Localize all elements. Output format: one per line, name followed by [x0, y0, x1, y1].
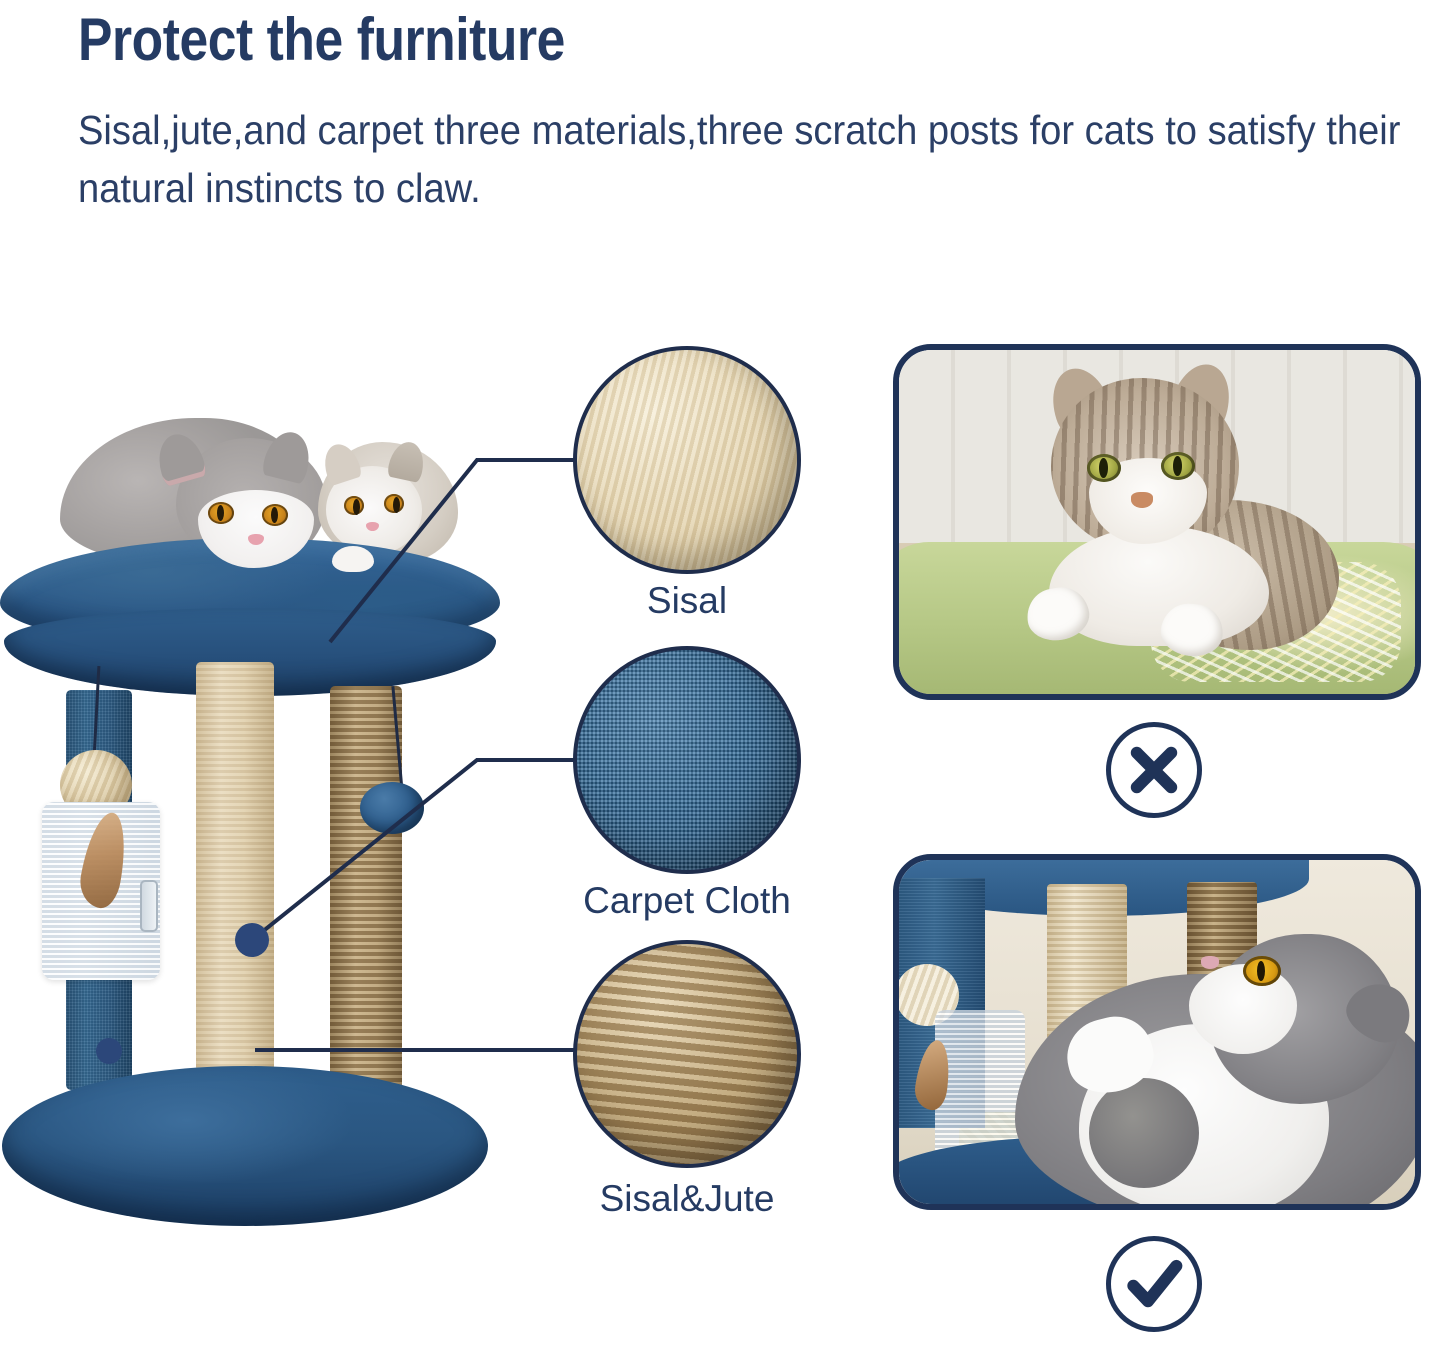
cat-eye-left — [208, 502, 234, 524]
swatch-label-sisal: Sisal — [537, 580, 837, 622]
kitten-ear-right — [386, 439, 427, 483]
kitten-nose — [366, 522, 379, 531]
swatch-sisal — [573, 346, 801, 574]
hanging-blue-pompom — [360, 782, 424, 834]
header: Protect the furniture Sisal,jute,and car… — [78, 8, 1408, 217]
cat-ear-left — [152, 429, 208, 487]
kitten-eye-right — [384, 494, 404, 513]
page-subtitle: Sisal,jute,and carpet three materials,th… — [78, 101, 1408, 217]
kitten-ear-left — [319, 440, 363, 487]
check-icon — [1106, 1236, 1202, 1332]
kitten-eye-left — [344, 496, 364, 515]
cat-eye — [1243, 956, 1281, 986]
swatch-sisal-jute — [573, 940, 801, 1168]
swatch-label-jute: Sisal&Jute — [537, 1178, 837, 1220]
callout-dot-carpet — [96, 1038, 122, 1064]
sisal-jute-post — [330, 686, 402, 1106]
cat-ear-right — [261, 427, 315, 484]
cat-eye-right — [262, 504, 288, 526]
photo-card-bad-example — [893, 344, 1421, 700]
cross-icon — [1106, 722, 1202, 818]
page-title: Protect the furniture — [78, 8, 1222, 71]
groomer-clip — [140, 880, 158, 932]
cat-eye-left — [1087, 454, 1121, 482]
product-photo — [0, 350, 520, 1280]
cat-nose — [1131, 492, 1153, 508]
kitten-paw — [332, 546, 374, 572]
cat-foreleg — [1089, 1078, 1199, 1188]
plush-round-base — [2, 1066, 488, 1226]
cat-eye-right — [1161, 452, 1195, 480]
content-stage: Sisal Carpet Cloth Sisal&Jute — [0, 330, 1441, 1345]
sisal-post — [196, 662, 274, 1112]
swatch-label-carpet: Carpet Cloth — [537, 880, 837, 922]
photo-card-good-example — [893, 854, 1421, 1210]
cat-nose — [1201, 956, 1219, 969]
swatch-carpet-cloth — [573, 646, 801, 874]
